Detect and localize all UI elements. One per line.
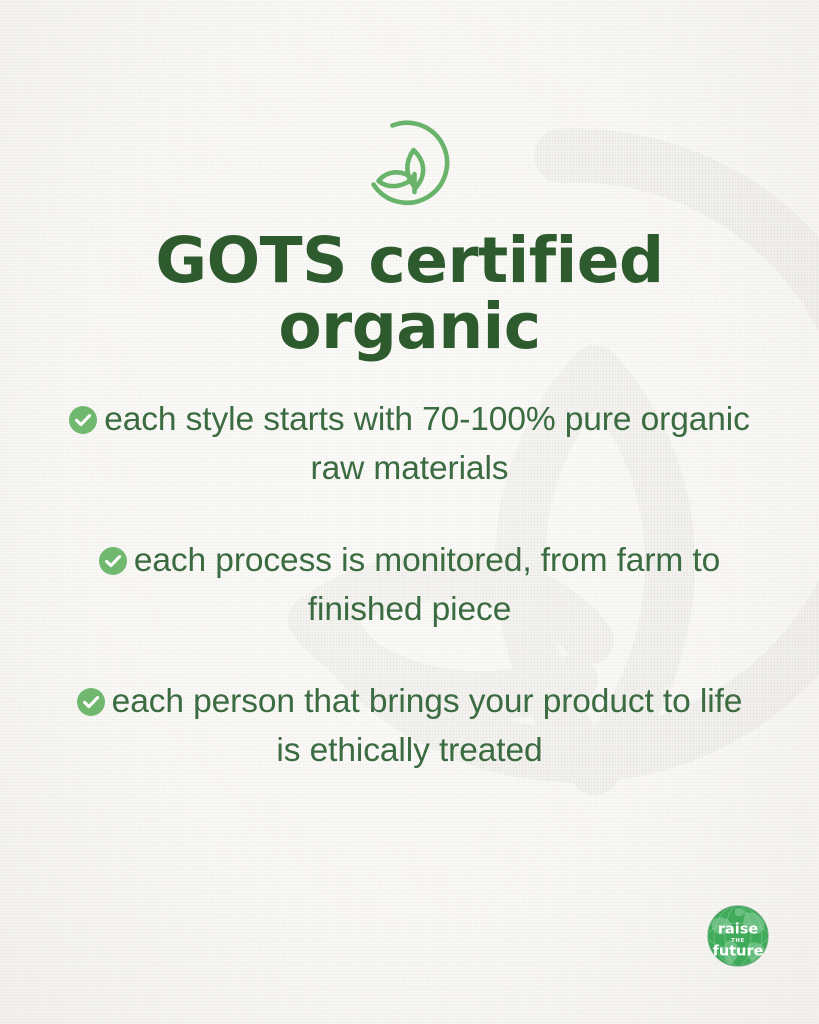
list-item-line-1: each process is monitored, [134, 542, 532, 579]
page-title: GOTS certified organic [0, 228, 819, 359]
list-item: each process is monitored, from farm to … [62, 537, 757, 634]
page-title-line-1: GOTS certified [155, 224, 663, 297]
list-item-line-1: each style starts with 70-100% [104, 401, 555, 438]
check-circle-icon [69, 406, 97, 434]
benefit-list: each style starts with 70-100% pure orga… [0, 396, 819, 775]
badge-line-1: raise [718, 922, 759, 938]
list-item: each style starts with 70-100% pure orga… [62, 396, 757, 493]
raise-the-future-logo: raise THE future [707, 905, 769, 967]
list-item-line-1: each person that brings your [112, 683, 534, 720]
brand-mark [0, 118, 819, 210]
page-title-line-2: organic [70, 294, 749, 360]
badge-line-3: future [713, 944, 764, 960]
list-item: each person that brings your product to … [62, 678, 757, 775]
check-circle-icon [77, 688, 105, 716]
leaf-in-circle-logo [364, 118, 456, 210]
check-circle-icon [99, 547, 127, 575]
poster-canvas: GOTS certified organic each style starts… [0, 0, 819, 1024]
